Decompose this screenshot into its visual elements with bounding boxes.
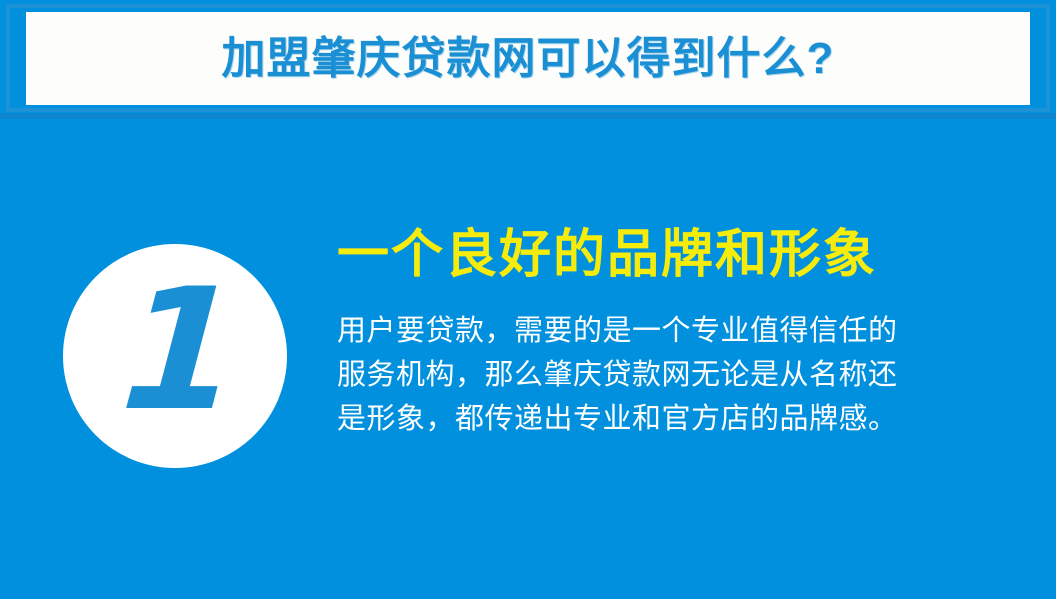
header-box: 加盟肇庆贷款网可以得到什么? — [26, 12, 1030, 105]
item-heading: 一个良好的品牌和形象 — [337, 227, 997, 283]
header-band: 加盟肇庆贷款网可以得到什么? — [0, 0, 1056, 119]
item-text-block: 一个良好的品牌和形象 用户要贷款，需要的是一个专业值得信任的 服务机构，那么肇庆… — [337, 227, 997, 441]
item-body: 用户要贷款，需要的是一个专业值得信任的 服务机构，那么肇庆贷款网无论是从名称还 … — [337, 309, 997, 441]
item-body-line-1: 用户要贷款，需要的是一个专业值得信任的 — [337, 309, 997, 353]
item-number-badge: 1 — [63, 244, 287, 468]
item-number-label: 1 — [117, 266, 242, 434]
item-body-line-3: 是形象，都传递出专业和官方店的品牌感。 — [337, 397, 997, 441]
content-area: 1 一个良好的品牌和形象 用户要贷款，需要的是一个专业值得信任的 服务机构，那么… — [0, 119, 1056, 599]
page-title: 加盟肇庆贷款网可以得到什么? — [222, 37, 835, 81]
item-body-line-2: 服务机构，那么肇庆贷款网无论是从名称还 — [337, 353, 997, 397]
slide-root: 加盟肇庆贷款网可以得到什么? 1 一个良好的品牌和形象 用户要贷款，需要的是一个… — [0, 0, 1056, 599]
